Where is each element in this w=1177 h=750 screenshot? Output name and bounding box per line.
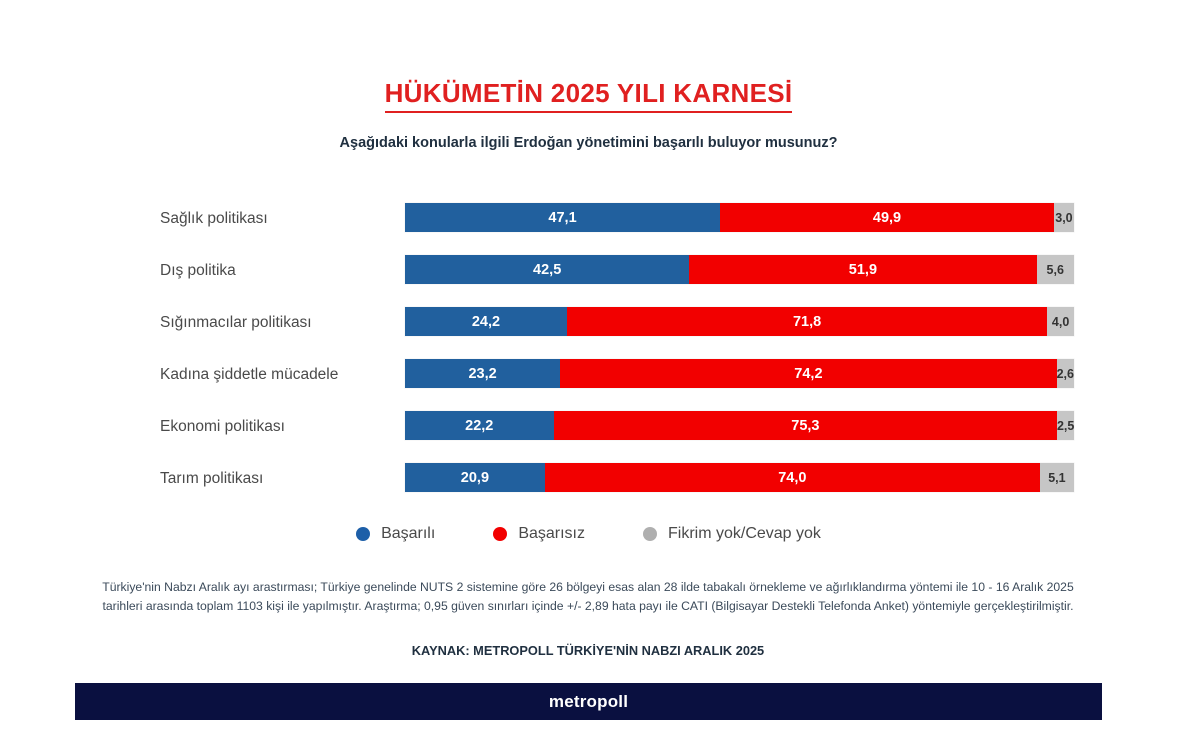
- bar-category-label: Sığınmacılar politikası: [160, 314, 400, 332]
- bar-segment-basarisiz: 74,0: [545, 463, 1040, 492]
- chart-title: HÜKÜMETİN 2025 YILI KARNESİ: [0, 78, 1177, 109]
- bar-segment-basarili: 23,2: [405, 359, 560, 388]
- legend-item-basarisiz: Başarısız: [493, 525, 585, 543]
- bar-segment-basarisiz: 49,9: [720, 203, 1054, 232]
- bar-track: 20,9 74,0 5,1: [405, 463, 1074, 492]
- legend-dot-icon: [493, 527, 507, 541]
- legend-item-fikrim-yok: Fikrim yok/Cevap yok: [643, 525, 821, 543]
- bar-segment-basarili: 42,5: [405, 255, 689, 284]
- legend-dot-icon: [643, 527, 657, 541]
- bar-segment-fikrim-yok: 3,0: [1054, 203, 1074, 232]
- bar-category-label: Dış politika: [160, 262, 400, 280]
- bar-segment-basarisiz: 74,2: [560, 359, 1056, 388]
- legend-label: Başarılı: [381, 525, 435, 543]
- bar-segment-fikrim-yok: 5,6: [1037, 255, 1074, 284]
- bar-row: Sağlık politikası 47,1 49,9 3,0: [0, 200, 1177, 252]
- bar-segment-fikrim-yok: 4,0: [1047, 307, 1074, 336]
- bar-segment-basarisiz: 71,8: [567, 307, 1047, 336]
- legend-item-basarili: Başarılı: [356, 525, 435, 543]
- chart-subtitle: Aşağıdaki konularla ilgili Erdoğan yönet…: [0, 135, 1177, 151]
- bar-segment-basarili: 47,1: [405, 203, 720, 232]
- legend-dot-icon: [356, 527, 370, 541]
- chart-title-text: HÜKÜMETİN 2025 YILI KARNESİ: [385, 78, 793, 113]
- bar-category-label: Sağlık politikası: [160, 210, 400, 228]
- bar-segment-fikrim-yok: 2,6: [1057, 359, 1074, 388]
- poll-infographic-card: HÜKÜMETİN 2025 YILI KARNESİ Aşağıdaki ko…: [0, 40, 1177, 680]
- legend-label: Başarısız: [518, 525, 585, 543]
- bar-row: Kadına şiddetle mücadele 23,2 74,2 2,6: [0, 356, 1177, 408]
- bar-segment-basarisiz: 51,9: [689, 255, 1036, 284]
- clipped-top-heading: %44, dış politikada yüzde 42,5 oranıyla …: [0, 0, 1177, 8]
- bar-segment-basarili: 22,2: [405, 411, 554, 440]
- bar-row: Dış politika 42,5 51,9 5,6: [0, 252, 1177, 304]
- bar-chart-plot-area: Sağlık politikası 47,1 49,9 3,0 Dış poli…: [0, 200, 1177, 512]
- source-line: KAYNAK: METROPOLL TÜRKİYE'NİN NABZI ARAL…: [88, 643, 1088, 658]
- methodology-footnote: Türkiye'nin Nabzı Aralık ayı arastırması…: [88, 578, 1088, 616]
- legend-label: Fikrim yok/Cevap yok: [668, 525, 821, 543]
- bar-row: Sığınmacılar politikası 24,2 71,8 4,0: [0, 304, 1177, 356]
- bar-row: Ekonomi politikası 22,2 75,3 2,5: [0, 408, 1177, 460]
- bar-segment-basarili: 24,2: [405, 307, 567, 336]
- bar-track: 24,2 71,8 4,0: [405, 307, 1074, 336]
- bar-track: 22,2 75,3 2,5: [405, 411, 1074, 440]
- bar-category-label: Kadına şiddetle mücadele: [160, 366, 400, 384]
- bar-row: Tarım politikası 20,9 74,0 5,1: [0, 460, 1177, 512]
- bar-segment-basarisiz: 75,3: [554, 411, 1058, 440]
- bar-track: 42,5 51,9 5,6: [405, 255, 1074, 284]
- bar-segment-basarili: 20,9: [405, 463, 545, 492]
- brand-footer-bar: metropoll: [75, 683, 1102, 720]
- bar-category-label: Ekonomi politikası: [160, 418, 400, 436]
- bar-track: 23,2 74,2 2,6: [405, 359, 1074, 388]
- bar-category-label: Tarım politikası: [160, 470, 400, 488]
- bar-segment-fikrim-yok: 2,5: [1057, 411, 1074, 440]
- bar-segment-fikrim-yok: 5,1: [1040, 463, 1074, 492]
- brand-name: metropoll: [549, 692, 628, 712]
- chart-legend: Başarılı Başarısız Fikrim yok/Cevap yok: [0, 525, 1177, 543]
- bar-track: 47,1 49,9 3,0: [405, 203, 1074, 232]
